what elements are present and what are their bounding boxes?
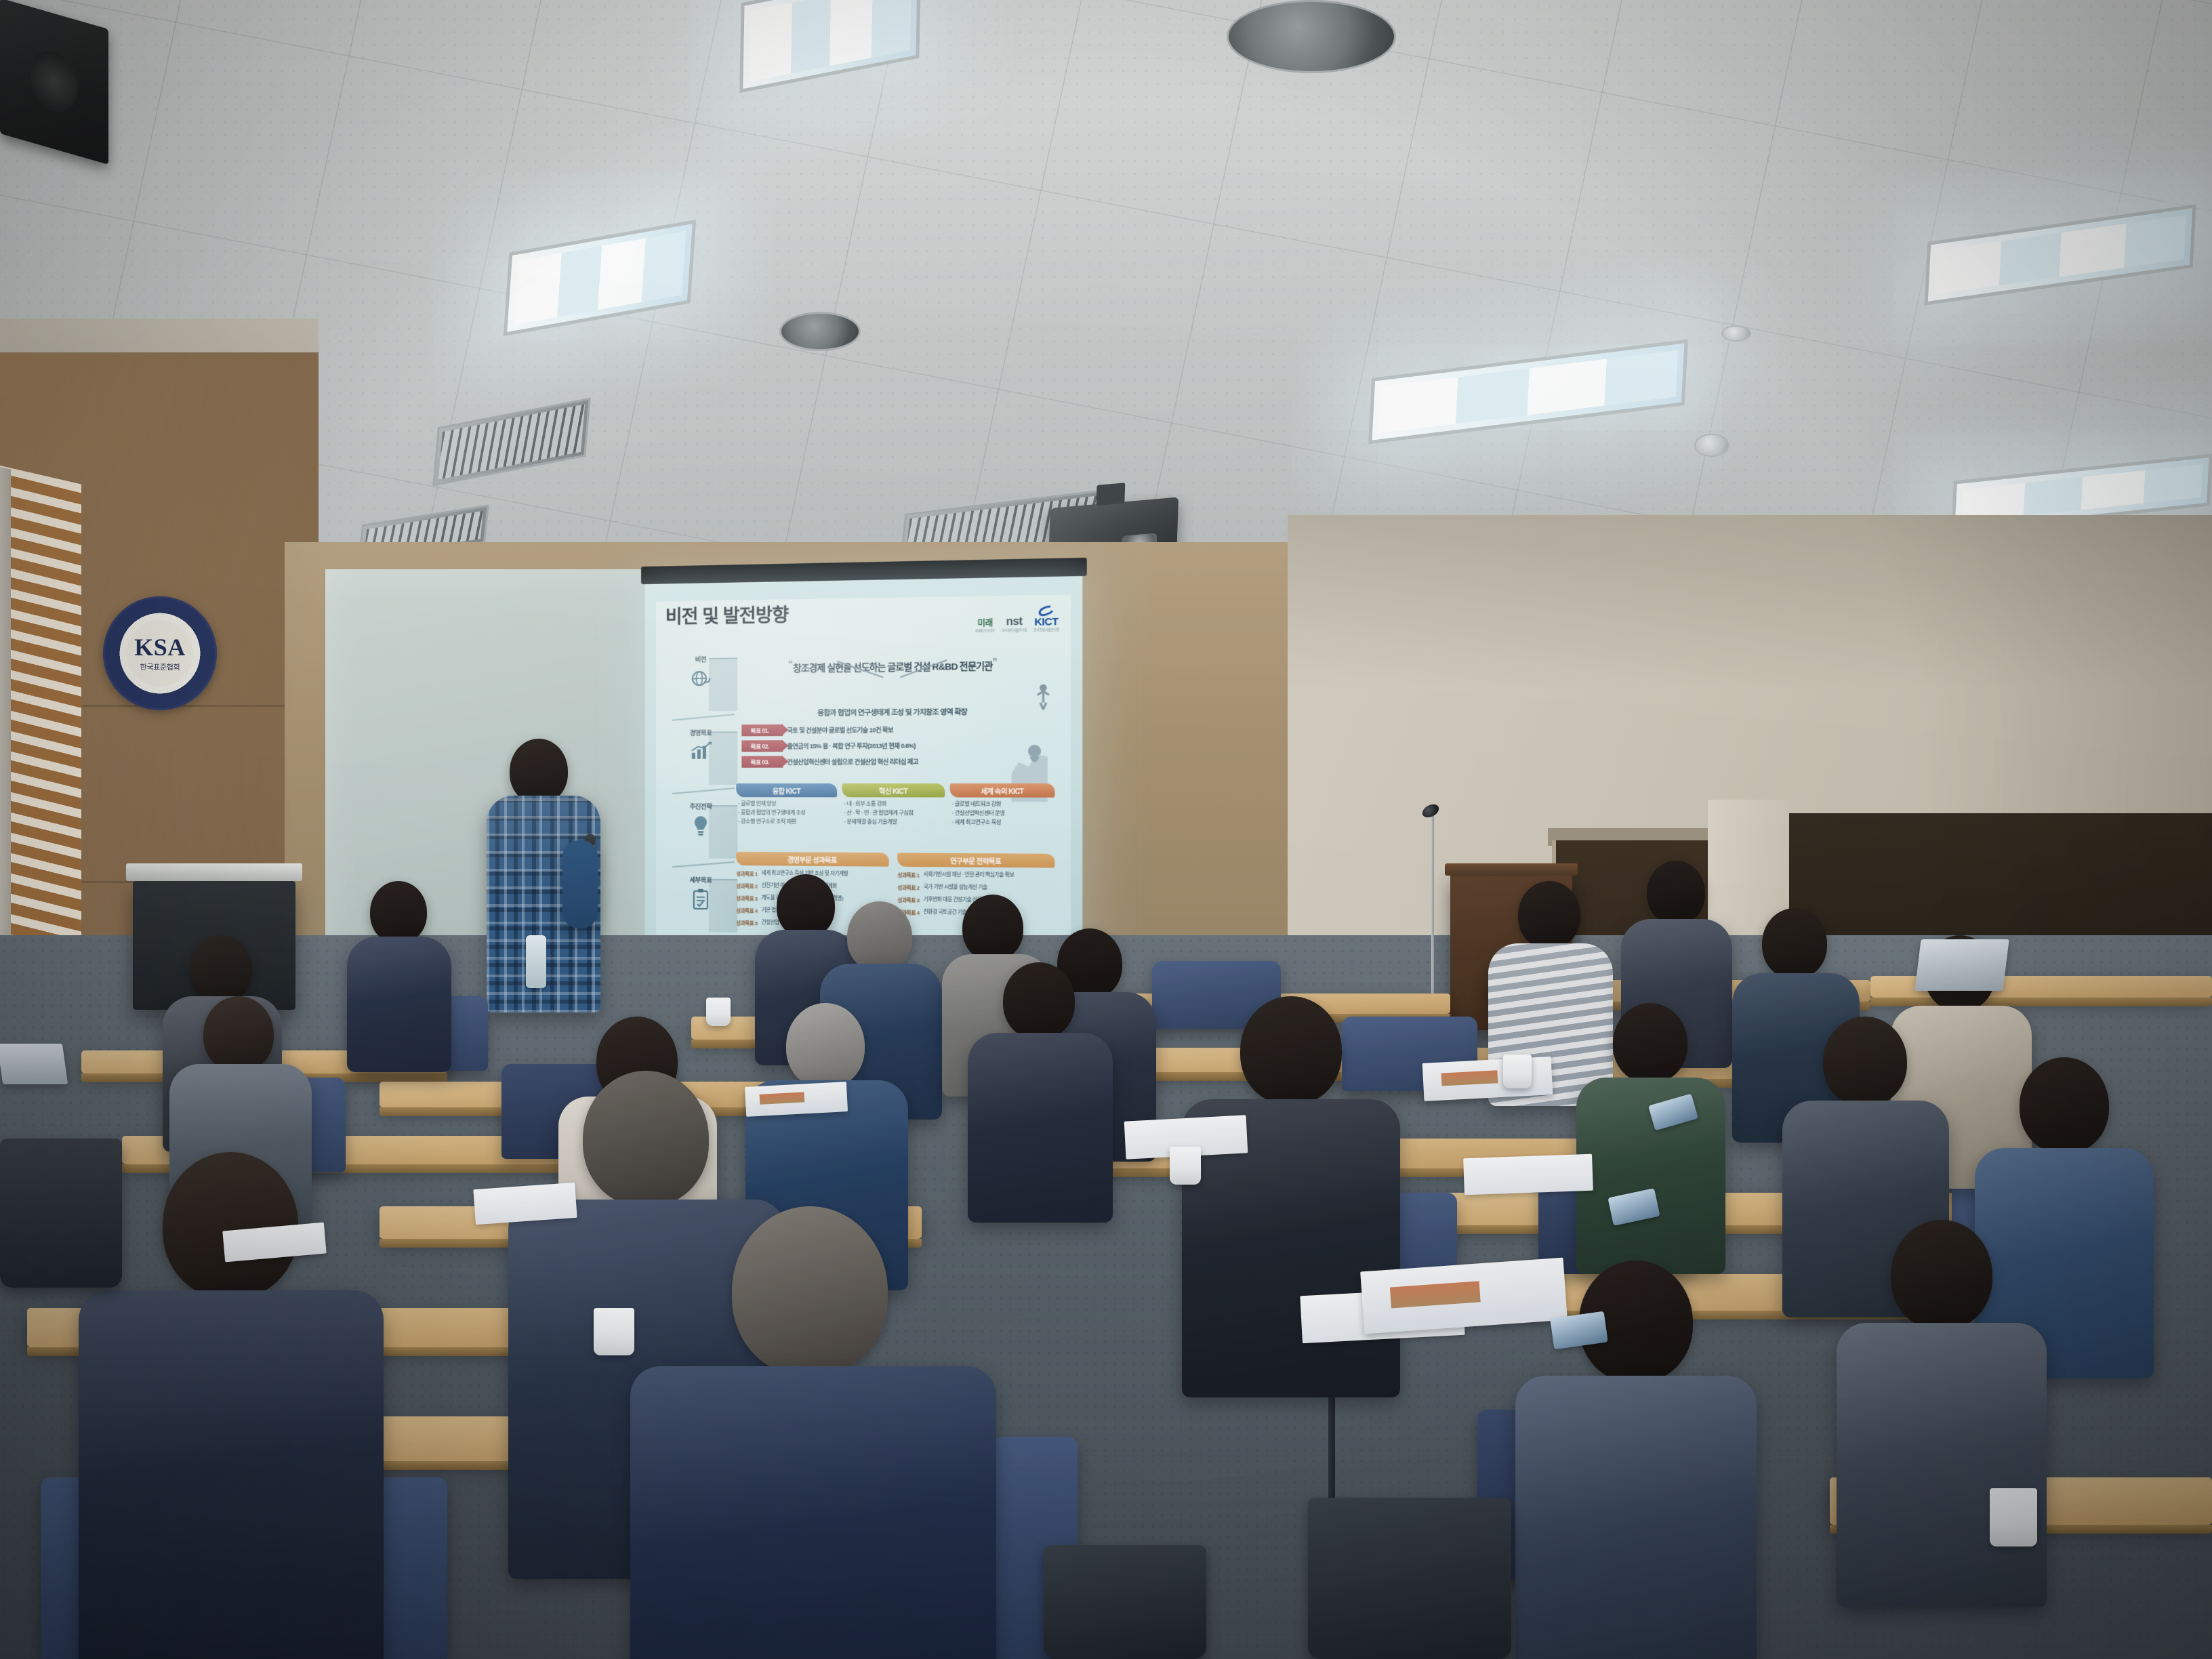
attendee-head bbox=[2020, 1057, 2109, 1153]
attendee-head bbox=[370, 881, 427, 943]
smoke-detector bbox=[1721, 325, 1751, 342]
water-bottle bbox=[526, 935, 546, 988]
kict-logo: KICT 한국건설기술연구원 bbox=[1033, 606, 1059, 632]
bag bbox=[1044, 1545, 1206, 1659]
ministry-logo: 미래 미래창조과학부 bbox=[975, 617, 995, 633]
presenter-head bbox=[510, 739, 568, 804]
ksa-logo-ring bbox=[103, 596, 217, 710]
attendee-head bbox=[777, 874, 835, 938]
rail-step-goals: 경영목표 bbox=[665, 727, 736, 793]
paper-cup bbox=[1990, 1488, 2037, 1547]
strategy-item: 세계 최고연구소 육성 bbox=[952, 819, 1055, 826]
objective-key: 성과목표 1 bbox=[736, 870, 757, 878]
strategy-item: 문제해결 중심 기술개발 bbox=[844, 819, 945, 825]
vision-statement: 창조경제 실현을 선도하는 글로벌 건설 R&BD 전문기관 bbox=[793, 662, 992, 674]
strategy-item: 글로벌 네트워크 강화 bbox=[952, 801, 1055, 808]
attendee-head bbox=[1003, 962, 1075, 1040]
objective-key: 성과목표 4 bbox=[736, 907, 757, 915]
handout-paper bbox=[1463, 1154, 1593, 1195]
rail-step-strategy: 추진전략 bbox=[665, 801, 736, 867]
rail-label: 세부목표 bbox=[690, 875, 712, 884]
goal-tag: 목표 02. bbox=[741, 740, 783, 752]
slide-logo-group: 미래 미래창조과학부 nst 국가과학기술연구회 KICT 한국건설기술연구원 bbox=[975, 606, 1059, 633]
strategy-column: 세계 속의 KICT 글로벌 네트워크 강화 건설산업혁신센터 운영 세계 최고… bbox=[950, 783, 1055, 829]
microphone-stand bbox=[1431, 813, 1434, 1017]
strategy-item-list: 글로벌 인재 양성 융합과 협업의 연구생태계 조성 강소형 연구소로 조직 재… bbox=[736, 800, 837, 825]
seminar-booklet bbox=[745, 1082, 848, 1117]
rail-step-vision: 비전 bbox=[665, 653, 736, 719]
attendee-head bbox=[583, 1071, 709, 1206]
objective-row: 성과목표 1 사회기반시설 재난 · 안전 관리 핵심기술 확보 bbox=[897, 872, 1054, 880]
attendee-torso bbox=[630, 1366, 996, 1659]
slide-stage-rail: 비전 경영목표 bbox=[665, 651, 736, 945]
strategy-item: 융합과 협업의 연구생태계 조성 bbox=[738, 810, 837, 817]
bag bbox=[0, 1139, 122, 1288]
nst-logo: nst 국가과학기술연구회 bbox=[1002, 615, 1027, 632]
attendee-torso bbox=[347, 937, 451, 1072]
clipboard-icon bbox=[691, 888, 711, 912]
quote-close-icon: ” bbox=[992, 656, 997, 668]
podium-top-surface bbox=[126, 863, 302, 881]
attendee-head bbox=[203, 996, 274, 1072]
round-ceiling-vent bbox=[779, 312, 861, 351]
strategy-header: 융합 KICT bbox=[736, 783, 837, 797]
strategy-item: 글로벌 인재 양성 bbox=[738, 800, 837, 807]
attendee-head bbox=[962, 895, 1023, 961]
laptop[interactable] bbox=[0, 1044, 68, 1084]
globe-icon bbox=[689, 667, 712, 691]
rail-label: 추진전략 bbox=[690, 801, 712, 811]
handout-paper bbox=[473, 1183, 577, 1225]
attendee-head bbox=[1613, 1003, 1687, 1083]
objective-value: 국가 기반 시설물 성능개선 기술 bbox=[924, 884, 987, 890]
strategy-column: 혁신 KICT 내 · 외부 소통 강화 산 · 학 · 연 · 관 협업체계 … bbox=[842, 783, 945, 828]
attendee-head bbox=[786, 1003, 865, 1088]
goal-tag: 목표 01. bbox=[741, 724, 783, 736]
strategy-header: 세계 속의 KICT bbox=[950, 783, 1055, 798]
window-blinds bbox=[0, 464, 81, 999]
attendee-head bbox=[1762, 908, 1827, 979]
attendee-head bbox=[190, 935, 252, 1003]
round-ceiling-vent bbox=[1227, 0, 1396, 73]
attendee-head bbox=[1518, 881, 1580, 949]
window-frame bbox=[0, 466, 11, 1005]
goal-text: 출연금의 15% 융 · 복합 연구 투자(2013년 현재 0.6%) bbox=[787, 741, 916, 750]
ministry-logo-sub: 미래창조과학부 bbox=[975, 629, 995, 634]
attendee-head bbox=[163, 1152, 298, 1298]
paper-cup bbox=[594, 1308, 634, 1355]
attendee-head bbox=[1647, 861, 1705, 924]
objective-key: 성과목표 3 bbox=[736, 895, 757, 902]
attendee-head bbox=[1823, 1017, 1907, 1106]
attendee-head bbox=[1891, 1220, 1992, 1330]
bar-chart-icon bbox=[689, 741, 712, 761]
strategy-columns: 융합 KICT 글로벌 인재 양성 융합과 협업의 연구생태계 조성 강소형 연… bbox=[736, 783, 1054, 829]
laptop[interactable] bbox=[1914, 939, 2009, 991]
vision-arrows-icon bbox=[829, 676, 956, 693]
rail-label: 경영목표 bbox=[690, 727, 712, 737]
attendee-torso bbox=[79, 1290, 384, 1659]
objective-key: 성과목표 5 bbox=[736, 920, 757, 928]
attendee-head bbox=[847, 901, 912, 972]
presenter-arm bbox=[562, 840, 598, 928]
paper-cup bbox=[706, 998, 731, 1026]
bag bbox=[1308, 1498, 1511, 1659]
objective-key: 성과목표 1 bbox=[897, 872, 919, 880]
objective-header: 연구부문 전략목표 bbox=[897, 853, 1054, 867]
objective-value: 사회기반시설 재난 · 안전 관리 핵심기술 확보 bbox=[924, 872, 1015, 878]
seminar-booklet bbox=[1422, 1057, 1553, 1101]
ministry-logo-mark: 미래 bbox=[977, 617, 992, 629]
lectern-top-surface bbox=[1445, 863, 1578, 876]
objective-row: 성과목표 2 국가 기반 시설물 성능개선 기술 bbox=[897, 884, 1054, 893]
nst-logo-sub: 국가과학기술연구회 bbox=[1002, 628, 1027, 633]
strategy-header: 혁신 KICT bbox=[842, 783, 945, 798]
rail-step-objectives: 세부목표 bbox=[665, 874, 736, 941]
projector-mount bbox=[1097, 483, 1126, 506]
objective-key: 성과목표 3 bbox=[897, 897, 919, 905]
quote-open-icon: “ bbox=[788, 658, 793, 669]
strategy-item: 건설산업혁신센터 운영 bbox=[952, 810, 1055, 817]
goal-tag: 목표 03. bbox=[741, 756, 783, 767]
seminar-room-photo: KSA 한국표준협회 비전 및 발전방향 미래 미래창조과학부 nst 국가과학… bbox=[0, 0, 2212, 1659]
attendee-head bbox=[732, 1206, 888, 1376]
strategy-item: 내 · 외부 소통 강화 bbox=[844, 800, 945, 807]
attendee-torso bbox=[1515, 1376, 1757, 1659]
objective-header: 경영부문 성과목표 bbox=[736, 852, 888, 867]
paper-cup bbox=[1503, 1054, 1532, 1088]
emergency-light bbox=[1694, 434, 1729, 457]
objective-key: 성과목표 2 bbox=[897, 884, 919, 892]
strategy-item-list: 글로벌 네트워크 강화 건설산업혁신센터 운영 세계 최고연구소 육성 bbox=[950, 801, 1055, 826]
kict-logo-sub: 한국건설기술연구원 bbox=[1033, 628, 1059, 632]
rail-label: 비전 bbox=[695, 654, 706, 663]
attendee-torso bbox=[968, 1033, 1113, 1223]
ksa-logo: KSA 한국표준협회 bbox=[103, 596, 217, 710]
climber-illustration bbox=[990, 668, 1059, 802]
strategy-item: 강소형 연구소로 조직 재편 bbox=[738, 819, 837, 825]
attendee-torso bbox=[1837, 1323, 2047, 1607]
attendee-head bbox=[1240, 996, 1342, 1105]
paper-cup bbox=[1170, 1147, 1201, 1185]
strategy-column: 융합 KICT 글로벌 인재 양성 융합과 협업의 연구생태계 조성 강소형 연… bbox=[736, 783, 837, 828]
nst-logo-mark: nst bbox=[1006, 616, 1023, 629]
lightbulb-icon bbox=[691, 814, 711, 837]
strategy-item: 산 · 학 · 연 · 관 협업체계 구심점 bbox=[844, 810, 945, 817]
objective-key: 성과목표 2 bbox=[736, 882, 757, 890]
goal-text: 국토 및 건설분야 글로벌 선도기술 10건 확보 bbox=[787, 725, 893, 735]
strategy-item-list: 내 · 외부 소통 강화 산 · 학 · 연 · 관 협업체계 구심점 문제해결… bbox=[842, 800, 945, 825]
goal-text: 건설산업혁신센터 설립으로 건설산업 혁신 리더십 제고 bbox=[787, 757, 918, 766]
kict-logo-mark: KICT bbox=[1034, 616, 1058, 628]
